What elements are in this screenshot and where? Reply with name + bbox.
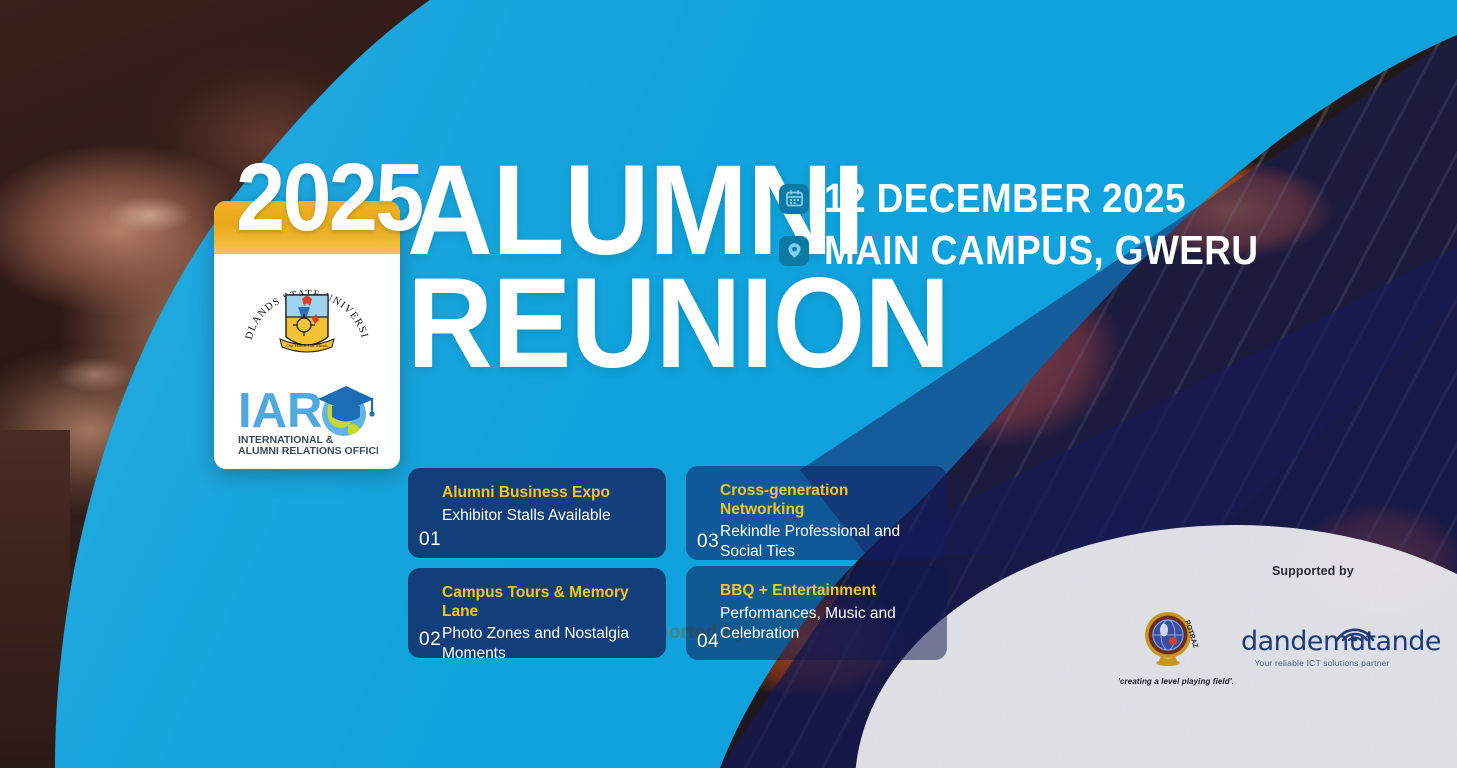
iaro-line2: ALUMNI RELATIONS OFFICE: [238, 445, 378, 457]
feature-number: 01: [419, 529, 441, 551]
svg-text:IAR: IAR: [238, 384, 322, 438]
event-date-text: 12 DECEMBER 2025: [824, 178, 1186, 219]
feature-card[interactable]: Alumni Business Expo Exhibitor Stalls Av…: [408, 468, 666, 558]
iaro-logo-icon: IAR INTERNATIONAL & ALUMNI RELATIONS OFF…: [236, 373, 378, 457]
msu-crest-icon: MIDLANDS STATE UNIVERSITY Our Hands Our …: [240, 261, 374, 371]
feature-card[interactable]: BBQ + Entertainment Performances, Music …: [686, 566, 947, 660]
feature-number: 04: [697, 631, 719, 653]
event-date-row: 12 DECEMBER 2025: [779, 178, 1226, 219]
feature-title: Alumni Business Expo: [442, 484, 652, 503]
feature-subtitle: Performances, Music and Celebration: [720, 604, 933, 644]
feature-card[interactable]: Cross-generation Networking Rekindle Pro…: [686, 466, 947, 560]
feature-subtitle: Photo Zones and Nostalgia Moments: [442, 624, 652, 658]
event-venue-text: MAIN CAMPUS, GWERU: [824, 230, 1258, 271]
title-line-2: REUNION: [407, 268, 949, 381]
sponsor-potraz[interactable]: POTRAZ 'creating a level playing field'.: [1118, 608, 1218, 686]
location-pin-icon: [779, 236, 809, 266]
event-venue-row: MAIN CAMPUS, GWERU: [779, 230, 1307, 271]
feature-number: 03: [697, 531, 719, 553]
wifi-arc-icon: [1333, 616, 1377, 642]
globe-on-stand-icon: POTRAZ: [1136, 608, 1200, 670]
feature-subtitle: Exhibitor Stalls Available: [442, 506, 652, 526]
feature-title: BBQ + Entertainment: [720, 582, 933, 601]
sponsor-dandemutande[interactable]: dandemutande Your reliable ICT solutions…: [1241, 628, 1403, 668]
feature-card[interactable]: Campus Tours & Memory Lane Photo Zones a…: [408, 568, 666, 658]
feature-number: 02: [419, 629, 441, 651]
sponsor-tagline: 'creating a level playing field'.: [1118, 677, 1218, 686]
feature-subtitle: Rekindle Professional and Social Ties: [720, 522, 933, 560]
alumni-reunion-banner: Supported by MIDLANDS STATE UNIVERSITY O…: [0, 0, 1457, 768]
sponsor-tagline: Your reliable ICT solutions partner: [1241, 658, 1403, 668]
feature-title: Cross-generation Networking: [720, 482, 933, 519]
supported-by-label: Supported by: [1272, 564, 1354, 578]
svg-text:Our Hands Our Minds: Our Hands Our Minds: [286, 343, 327, 348]
calendar-icon: [779, 184, 809, 214]
feature-title: Campus Tours & Memory Lane: [442, 584, 652, 621]
sponsor-wordmark: dandemutande: [1241, 628, 1403, 655]
year-badge-text: 2025: [236, 150, 421, 246]
